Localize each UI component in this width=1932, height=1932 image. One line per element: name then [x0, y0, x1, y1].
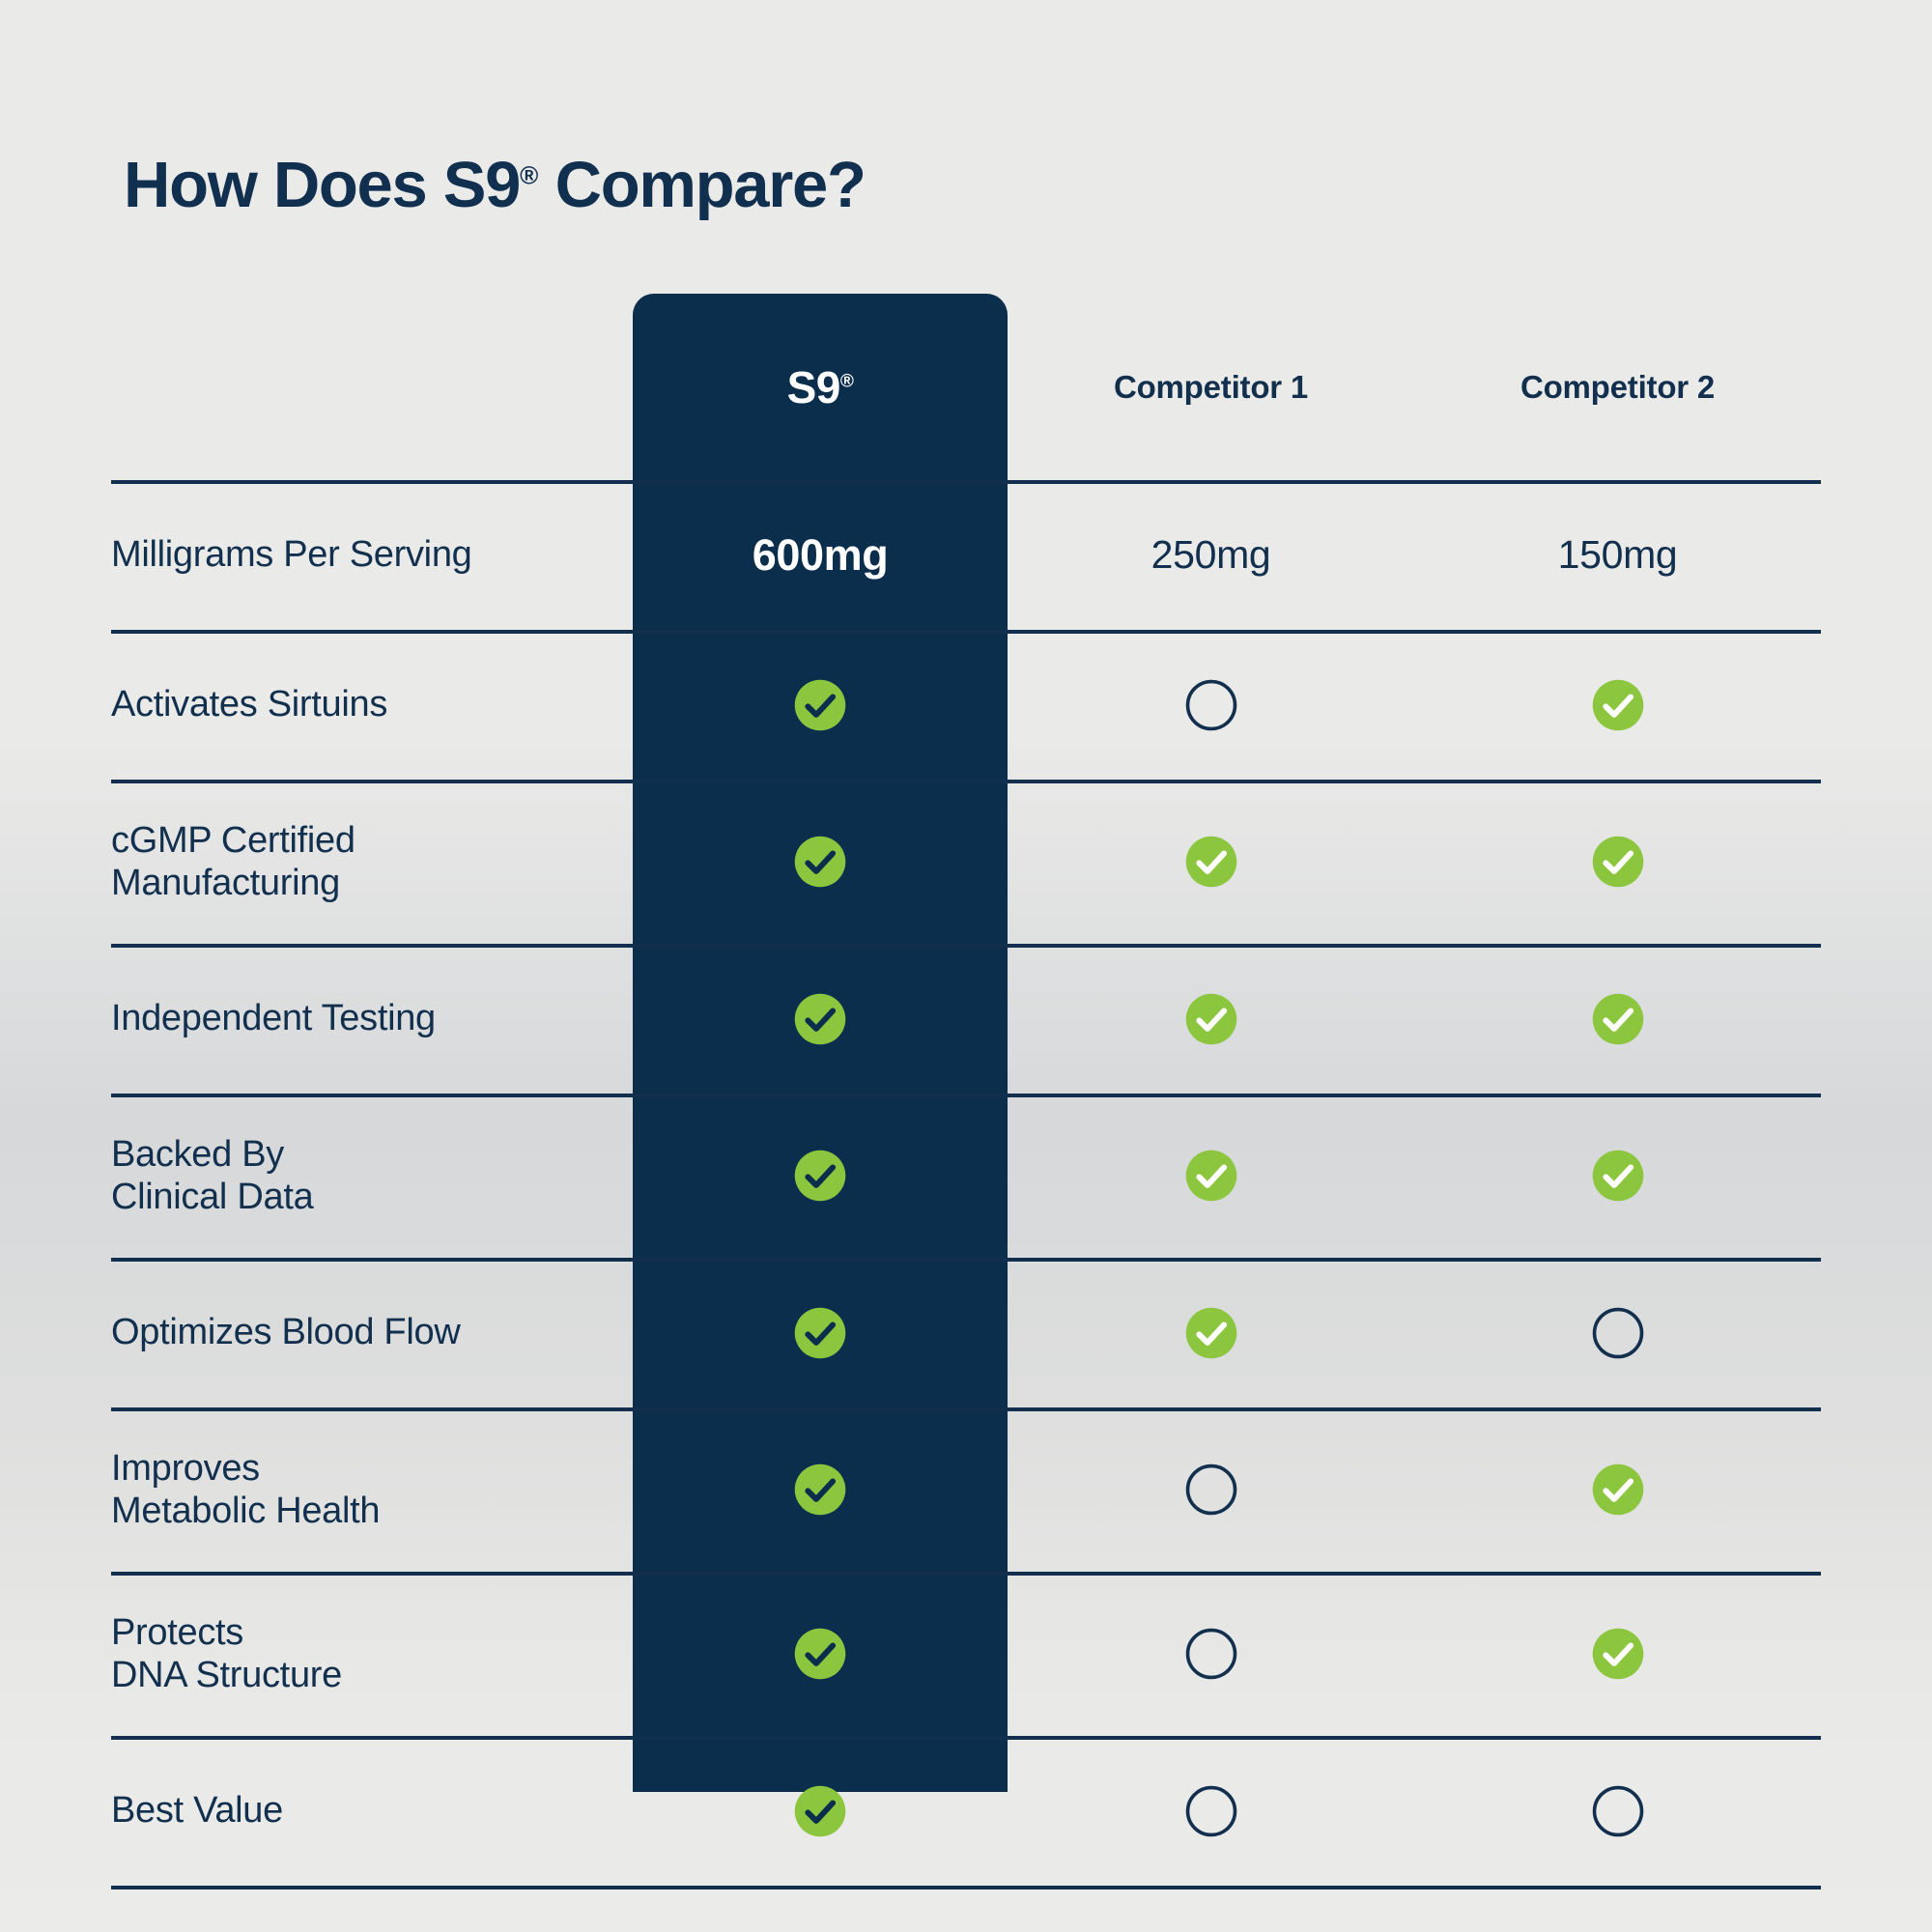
- header-cell-feature: [111, 294, 633, 480]
- empty-circle-icon: [1183, 1462, 1239, 1518]
- empty-circle-icon: [1183, 677, 1239, 733]
- row-label-cell: Best Value: [111, 1736, 633, 1886]
- cell-s9: [633, 1736, 1008, 1886]
- cell-competitor2: [1414, 1736, 1821, 1886]
- cell-competitor2: [1414, 1094, 1821, 1258]
- cell-s9: [633, 944, 1008, 1094]
- header-cell-competitor2: Competitor 2: [1414, 294, 1821, 480]
- comparison-table: S9® Competitor 1 Competitor 2 Milligrams…: [111, 294, 1821, 1793]
- row-label-cell: ProtectsDNA Structure: [111, 1572, 633, 1736]
- row-divider: [111, 1094, 1821, 1097]
- cell-s9: [633, 1407, 1008, 1572]
- table-row: Optimizes Blood Flow: [111, 1258, 1821, 1407]
- check-circle-icon: [1590, 834, 1646, 890]
- check-circle-icon: [792, 677, 848, 733]
- row-label: ImprovesMetabolic Health: [111, 1447, 380, 1532]
- table-row: Backed ByClinical Data: [111, 1094, 1821, 1258]
- cell-competitor2: [1414, 1407, 1821, 1572]
- table-header-row: S9® Competitor 1 Competitor 2: [111, 294, 1821, 480]
- cell-competitor1: [1008, 630, 1414, 780]
- cell-competitor1: [1008, 1572, 1414, 1736]
- row-divider: [111, 630, 1821, 634]
- check-circle-icon: [1183, 991, 1239, 1047]
- cell-s9: [633, 630, 1008, 780]
- row-label: Milligrams Per Serving: [111, 533, 472, 576]
- header-cell-competitor1: Competitor 1: [1008, 294, 1414, 480]
- table-row: cGMP CertifiedManufacturing: [111, 780, 1821, 944]
- cell-competitor1: [1008, 1258, 1414, 1407]
- row-divider: [111, 1407, 1821, 1411]
- check-circle-icon: [792, 1305, 848, 1361]
- cell-competitor2: [1414, 780, 1821, 944]
- check-circle-icon: [1183, 1305, 1239, 1361]
- cell-competitor1: [1008, 780, 1414, 944]
- check-circle-icon: [1590, 1462, 1646, 1518]
- row-label-cell: Independent Testing: [111, 944, 633, 1094]
- empty-circle-icon: [1183, 1626, 1239, 1682]
- cell-competitor2: 150mg: [1414, 480, 1821, 630]
- row-label: ProtectsDNA Structure: [111, 1611, 342, 1696]
- row-divider: [111, 1572, 1821, 1576]
- cell-competitor1: [1008, 1094, 1414, 1258]
- cell-s9: [633, 780, 1008, 944]
- check-circle-icon: [1590, 991, 1646, 1047]
- registered-trademark-icon: ®: [520, 161, 538, 190]
- cell-competitor2: [1414, 1258, 1821, 1407]
- page-title-tail: Compare?: [538, 149, 865, 221]
- table-row: Independent Testing: [111, 944, 1821, 1094]
- table-row: ImprovesMetabolic Health: [111, 1407, 1821, 1572]
- cell-s9: 600mg: [633, 480, 1008, 630]
- row-divider: [111, 944, 1821, 948]
- cell-s9: [633, 1572, 1008, 1736]
- check-circle-icon: [792, 1148, 848, 1204]
- row-label: Optimizes Blood Flow: [111, 1311, 460, 1353]
- row-label-cell: Backed ByClinical Data: [111, 1094, 633, 1258]
- row-label-cell: Milligrams Per Serving: [111, 480, 633, 630]
- cell-value-competitor1: 250mg: [1151, 532, 1271, 578]
- cell-s9: [633, 1094, 1008, 1258]
- table-row: ProtectsDNA Structure: [111, 1572, 1821, 1736]
- row-divider: [111, 480, 1821, 484]
- row-label: Independent Testing: [111, 997, 436, 1039]
- row-label-cell: ImprovesMetabolic Health: [111, 1407, 633, 1572]
- row-label: cGMP CertifiedManufacturing: [111, 819, 355, 904]
- cell-value-s9: 600mg: [753, 530, 889, 581]
- cell-competitor1: [1008, 944, 1414, 1094]
- header-cell-s9: S9®: [633, 294, 1008, 480]
- row-divider: [111, 780, 1821, 783]
- check-circle-icon: [792, 1626, 848, 1682]
- registered-trademark-icon: ®: [840, 371, 854, 391]
- table-row: Activates Sirtuins: [111, 630, 1821, 780]
- check-circle-icon: [1183, 1148, 1239, 1204]
- cell-competitor2: [1414, 944, 1821, 1094]
- cell-competitor1: [1008, 1407, 1414, 1572]
- check-circle-icon: [792, 1783, 848, 1839]
- column-header-s9-label: S9®: [787, 361, 854, 413]
- empty-circle-icon: [1590, 1305, 1646, 1361]
- table-row: Best Value: [111, 1736, 1821, 1886]
- cell-competitor2: [1414, 630, 1821, 780]
- check-circle-icon: [792, 834, 848, 890]
- check-circle-icon: [1590, 1148, 1646, 1204]
- cell-s9: [633, 1258, 1008, 1407]
- check-circle-icon: [792, 991, 848, 1047]
- check-circle-icon: [792, 1462, 848, 1518]
- cell-competitor1: 250mg: [1008, 480, 1414, 630]
- cell-competitor2: [1414, 1572, 1821, 1736]
- column-header-competitor2-label: Competitor 2: [1520, 369, 1715, 406]
- row-label: Best Value: [111, 1789, 283, 1832]
- row-label-cell: Activates Sirtuins: [111, 630, 633, 780]
- row-divider: [111, 1886, 1821, 1889]
- check-circle-icon: [1590, 1626, 1646, 1682]
- page-title-main: How Does S9: [124, 149, 520, 221]
- cell-competitor1: [1008, 1736, 1414, 1886]
- row-divider: [111, 1258, 1821, 1262]
- row-divider: [111, 1736, 1821, 1740]
- cell-value-competitor2: 150mg: [1558, 532, 1678, 578]
- row-label: Activates Sirtuins: [111, 683, 387, 725]
- row-label: Backed ByClinical Data: [111, 1133, 313, 1218]
- column-header-competitor1-label: Competitor 1: [1114, 369, 1308, 406]
- check-circle-icon: [1183, 834, 1239, 890]
- page-title: How Does S9® Compare?: [124, 148, 866, 222]
- empty-circle-icon: [1183, 1783, 1239, 1839]
- table-row: Milligrams Per Serving600mg250mg150mg: [111, 480, 1821, 630]
- table-grid: S9® Competitor 1 Competitor 2 Milligrams…: [111, 294, 1821, 1886]
- row-label-cell: Optimizes Blood Flow: [111, 1258, 633, 1407]
- row-label-cell: cGMP CertifiedManufacturing: [111, 780, 633, 944]
- check-circle-icon: [1590, 677, 1646, 733]
- empty-circle-icon: [1590, 1783, 1646, 1839]
